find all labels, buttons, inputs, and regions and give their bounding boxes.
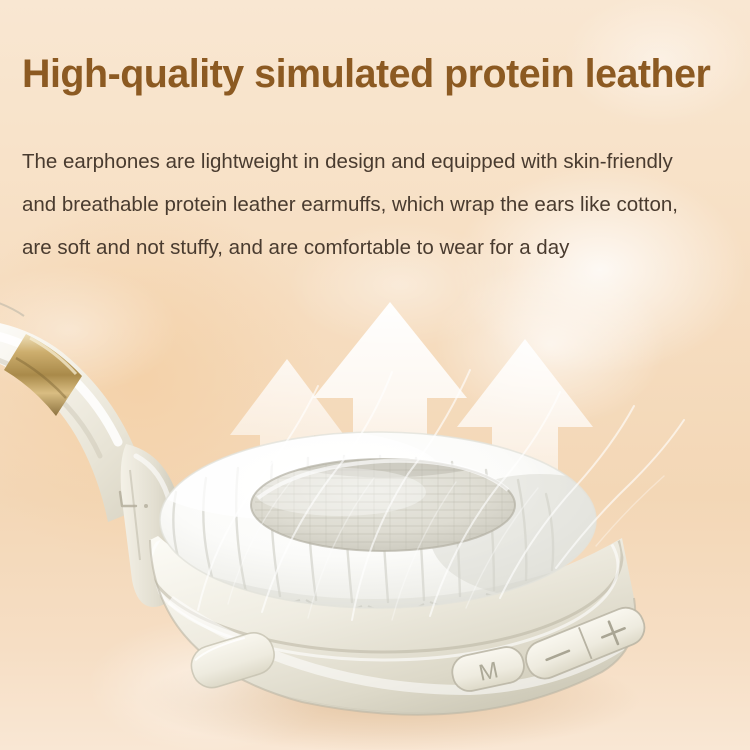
headphone-illustration bbox=[0, 0, 750, 750]
product-marketing-poster: High-quality simulated protein leather T… bbox=[0, 0, 750, 750]
